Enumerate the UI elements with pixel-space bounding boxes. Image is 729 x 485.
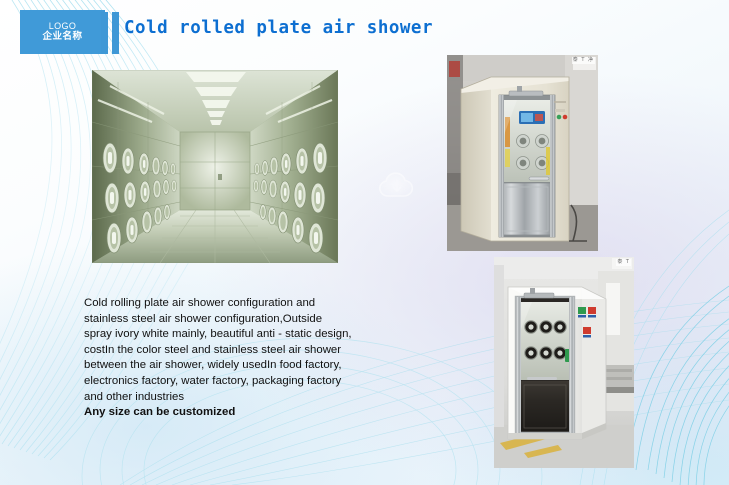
desc-line-1: Cold rolling plate air shower configurat… — [84, 296, 414, 312]
swoosh-bottom-right — [626, 286, 729, 485]
air-shower-cabinet-white-image: 泰 T — [494, 257, 634, 468]
desc-line-5: between the air shower, widely usedIn fo… — [84, 358, 414, 374]
product-description: Cold rolling plate air shower configurat… — [84, 296, 414, 421]
page-title: Cold rolled plate air shower — [124, 18, 433, 38]
company-logo-block: LOGO 企业名称 — [20, 10, 105, 54]
air-shower-corridor-image — [92, 70, 338, 263]
desc-line-3: spray ivory white mainly, beautiful anti… — [84, 327, 414, 343]
desc-line-4: costIn the color steel and stainless ste… — [84, 343, 414, 359]
cloud-watermark-icon — [380, 173, 412, 196]
air-shower-cabinet-beige-image: 泰 T 净 — [447, 55, 598, 251]
slide-canvas: LOGO 企业名称 Cold rolled plate air shower — [0, 0, 729, 485]
company-name-label: 企业名称 — [42, 32, 82, 43]
header-divider-bar-2 — [112, 12, 119, 54]
desc-line-2: stainless steel air shower configuration… — [84, 312, 414, 328]
photo-watermark: 泰 T — [616, 259, 631, 266]
photo-watermark: 泰 T 净 — [572, 57, 595, 64]
desc-line-7: and other industries — [84, 390, 414, 406]
desc-line-6: electronics factory, water factory, pack… — [84, 374, 414, 390]
slide-header: LOGO 企业名称 Cold rolled plate air shower — [0, 0, 729, 58]
desc-highlight: Any size can be customized — [84, 405, 414, 421]
header-divider-bar-1 — [101, 12, 108, 54]
